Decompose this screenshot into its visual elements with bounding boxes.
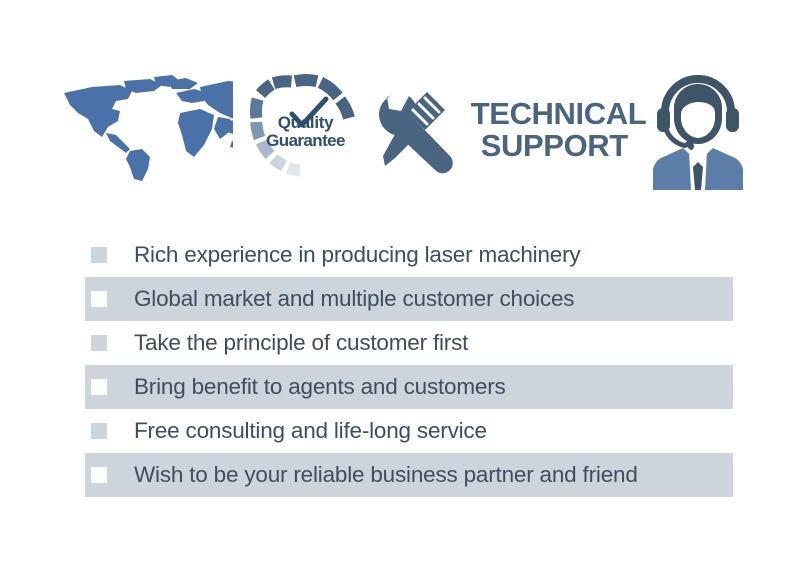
list-item-label: Global market and multiple customer choi… [134, 286, 574, 312]
world-map-cell [55, 60, 235, 200]
technical-support-label: TECHNICAL SUPPORT [471, 98, 647, 162]
bullet-square-icon [91, 291, 107, 307]
support-agent-cell [638, 60, 758, 200]
bullet-square-icon [91, 379, 107, 395]
bullet-square-icon [91, 247, 107, 263]
list-item-label: Bring benefit to agents and customers [134, 374, 506, 400]
list-item[interactable]: Take the principle of customer first [85, 321, 733, 365]
list-item[interactable]: Global market and multiple customer choi… [85, 277, 733, 321]
technical-support-line-2: SUPPORT [481, 130, 647, 162]
list-item[interactable]: Rich experience in producing laser machi… [85, 233, 733, 277]
wrench-screwdriver-icon [365, 80, 465, 180]
headset-support-agent-icon [643, 68, 753, 193]
quality-guarantee-cell: Quality Guarantee [238, 60, 373, 200]
world-map-icon [58, 75, 233, 185]
quality-line-1: Quality [278, 113, 334, 132]
technical-support-line-1: TECHNICAL [471, 98, 647, 130]
list-item-label: Rich experience in producing laser machi… [134, 242, 580, 268]
list-item[interactable]: Wish to be your reliable business partne… [85, 453, 733, 497]
icon-strip: Quality Guarantee [0, 60, 800, 200]
bullet-square-icon [91, 423, 107, 439]
bullet-square-icon [91, 335, 107, 351]
list-item-label: Wish to be your reliable business partne… [134, 462, 638, 488]
feature-list: Rich experience in producing laser machi… [85, 233, 733, 497]
bullet-square-icon [91, 467, 107, 483]
list-item[interactable]: Free consulting and life-long service [85, 409, 733, 453]
list-item-label: Free consulting and life-long service [134, 418, 487, 444]
quality-line-2: Guarantee [246, 132, 366, 150]
quality-guarantee-label: Quality Guarantee [246, 114, 366, 149]
technical-support-cell: TECHNICAL SUPPORT [378, 60, 633, 200]
list-item[interactable]: Bring benefit to agents and customers [85, 365, 733, 409]
list-item-label: Take the principle of customer first [134, 330, 468, 356]
